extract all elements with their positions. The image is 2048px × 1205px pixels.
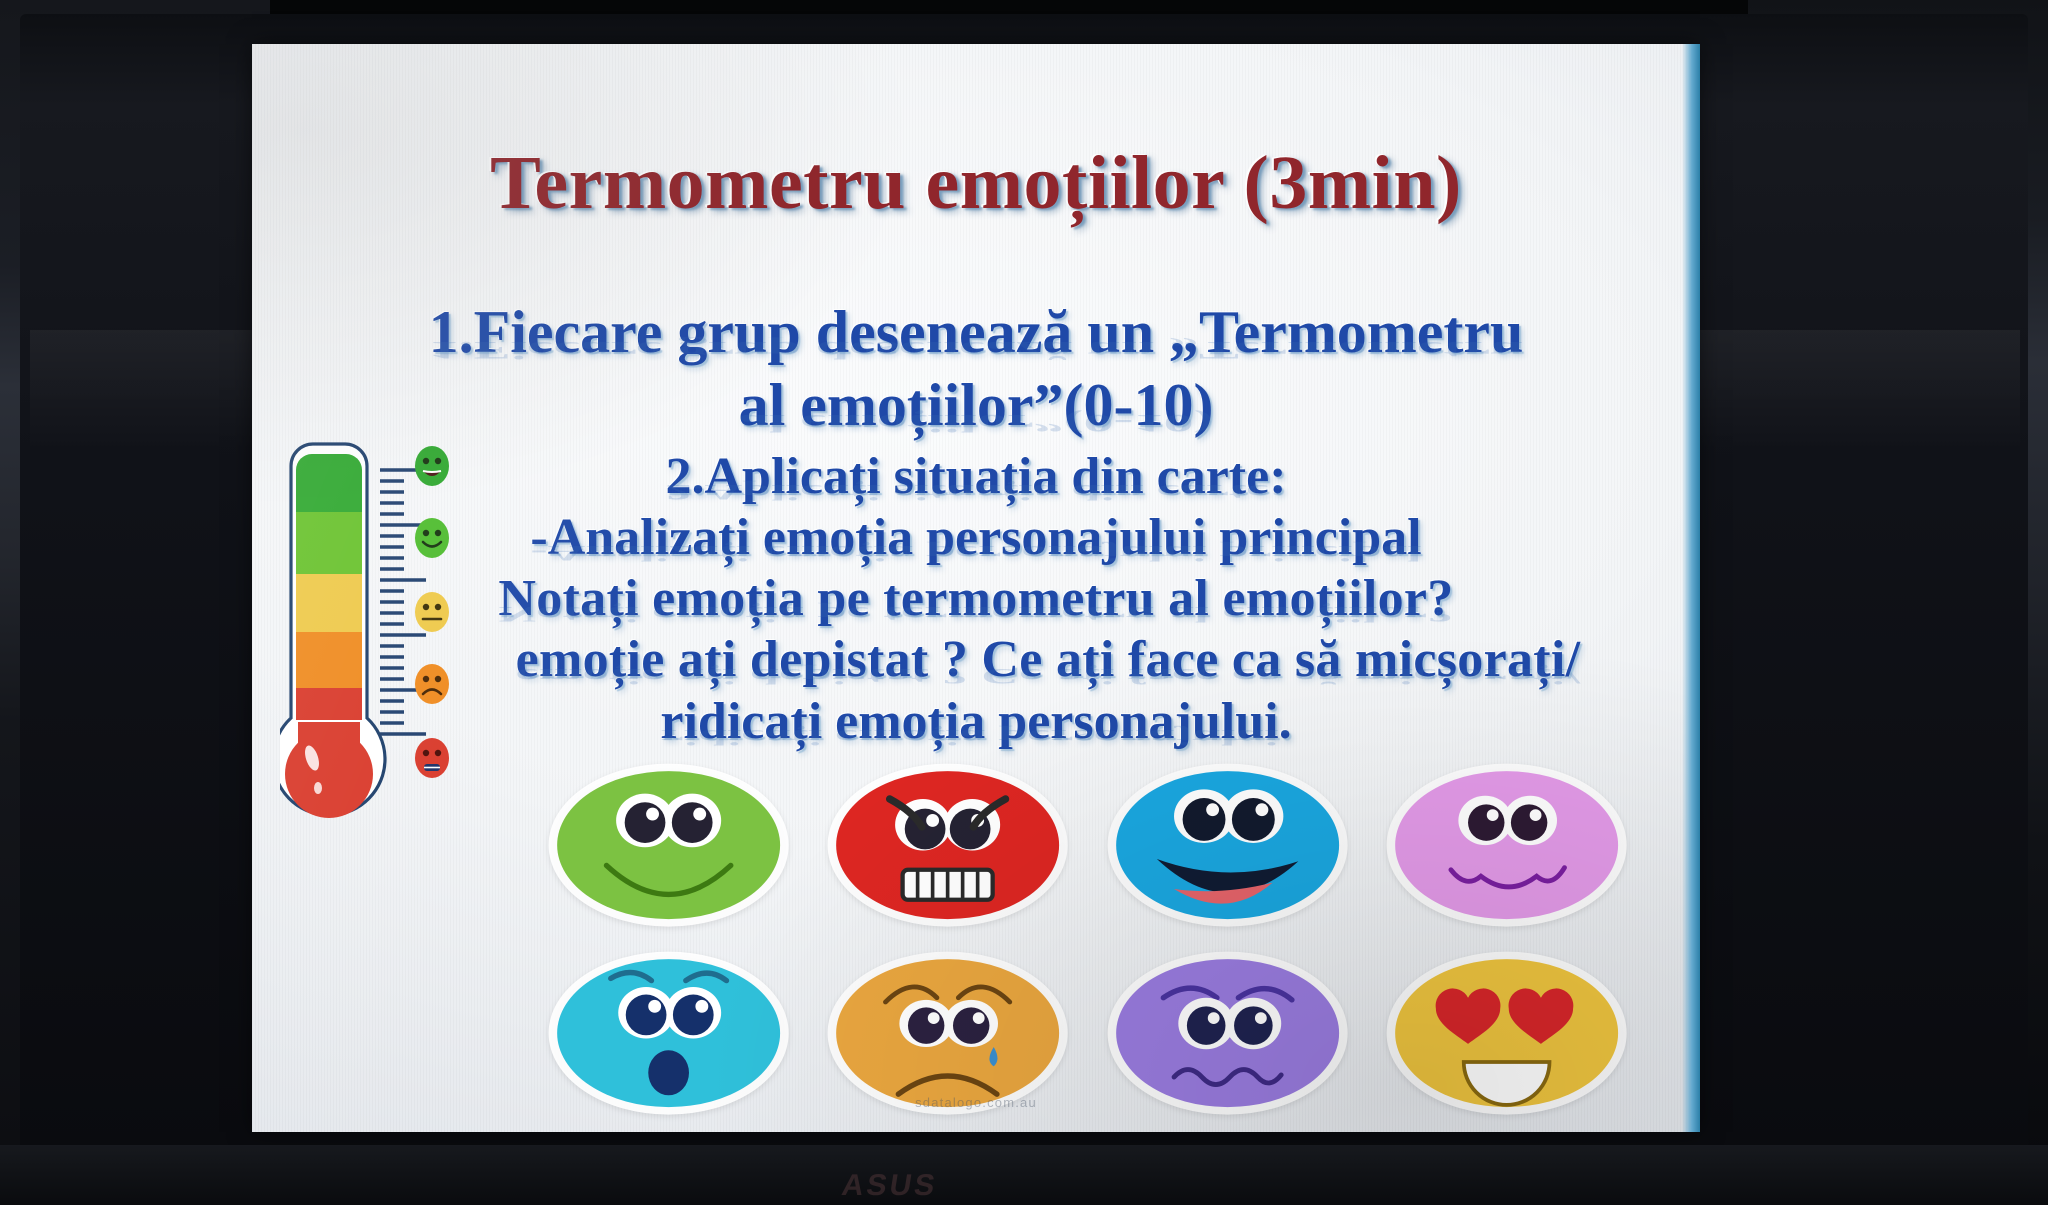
band-neutral: [296, 574, 362, 632]
band-very-good: [296, 450, 362, 512]
slide-title: Termometru emoțiilor (3min): [252, 140, 1700, 227]
mini-face-smiling: [412, 516, 452, 560]
emoji-happy-green: [540, 754, 797, 936]
laptop-brand-logo: ASUS: [842, 1169, 1102, 1203]
bulb-highlight-small: [314, 782, 322, 794]
mini-face-neutral: [412, 590, 452, 634]
slide-line-1: 1.Fiecare grup desenează un „Termometru: [252, 302, 1700, 363]
mini-face-laughing: [412, 444, 452, 488]
slide-right-edge-glow: [1682, 44, 1700, 1132]
mini-face-crying: [412, 736, 452, 780]
slide-line-6: emoție ați depistat ? Ce ați face ca să …: [314, 633, 1700, 686]
emoji-content-pink: [1378, 754, 1635, 936]
screenshot-root: Termometru emoțiilor (3min) 1.Fiecare gr…: [0, 0, 2048, 1205]
thermometer-bands: [296, 450, 362, 750]
emoji-laughing-blue: [1099, 754, 1356, 936]
slide-line-2: al emoțiilor”(0-10): [252, 375, 1700, 436]
band-good: [296, 512, 362, 574]
slide-watermark: sdatalogo.com.au: [252, 1095, 1700, 1110]
band-bad: [296, 632, 362, 688]
emoji-grid: [540, 754, 1635, 1104]
emoji-angry-red: [819, 754, 1076, 936]
brand-label: ASUS: [839, 1169, 1104, 1203]
mini-face-sad: [412, 662, 452, 706]
thermometer-face-legend: [402, 444, 468, 804]
presentation-slide: Termometru emoțiilor (3min) 1.Fiecare gr…: [252, 44, 1700, 1132]
